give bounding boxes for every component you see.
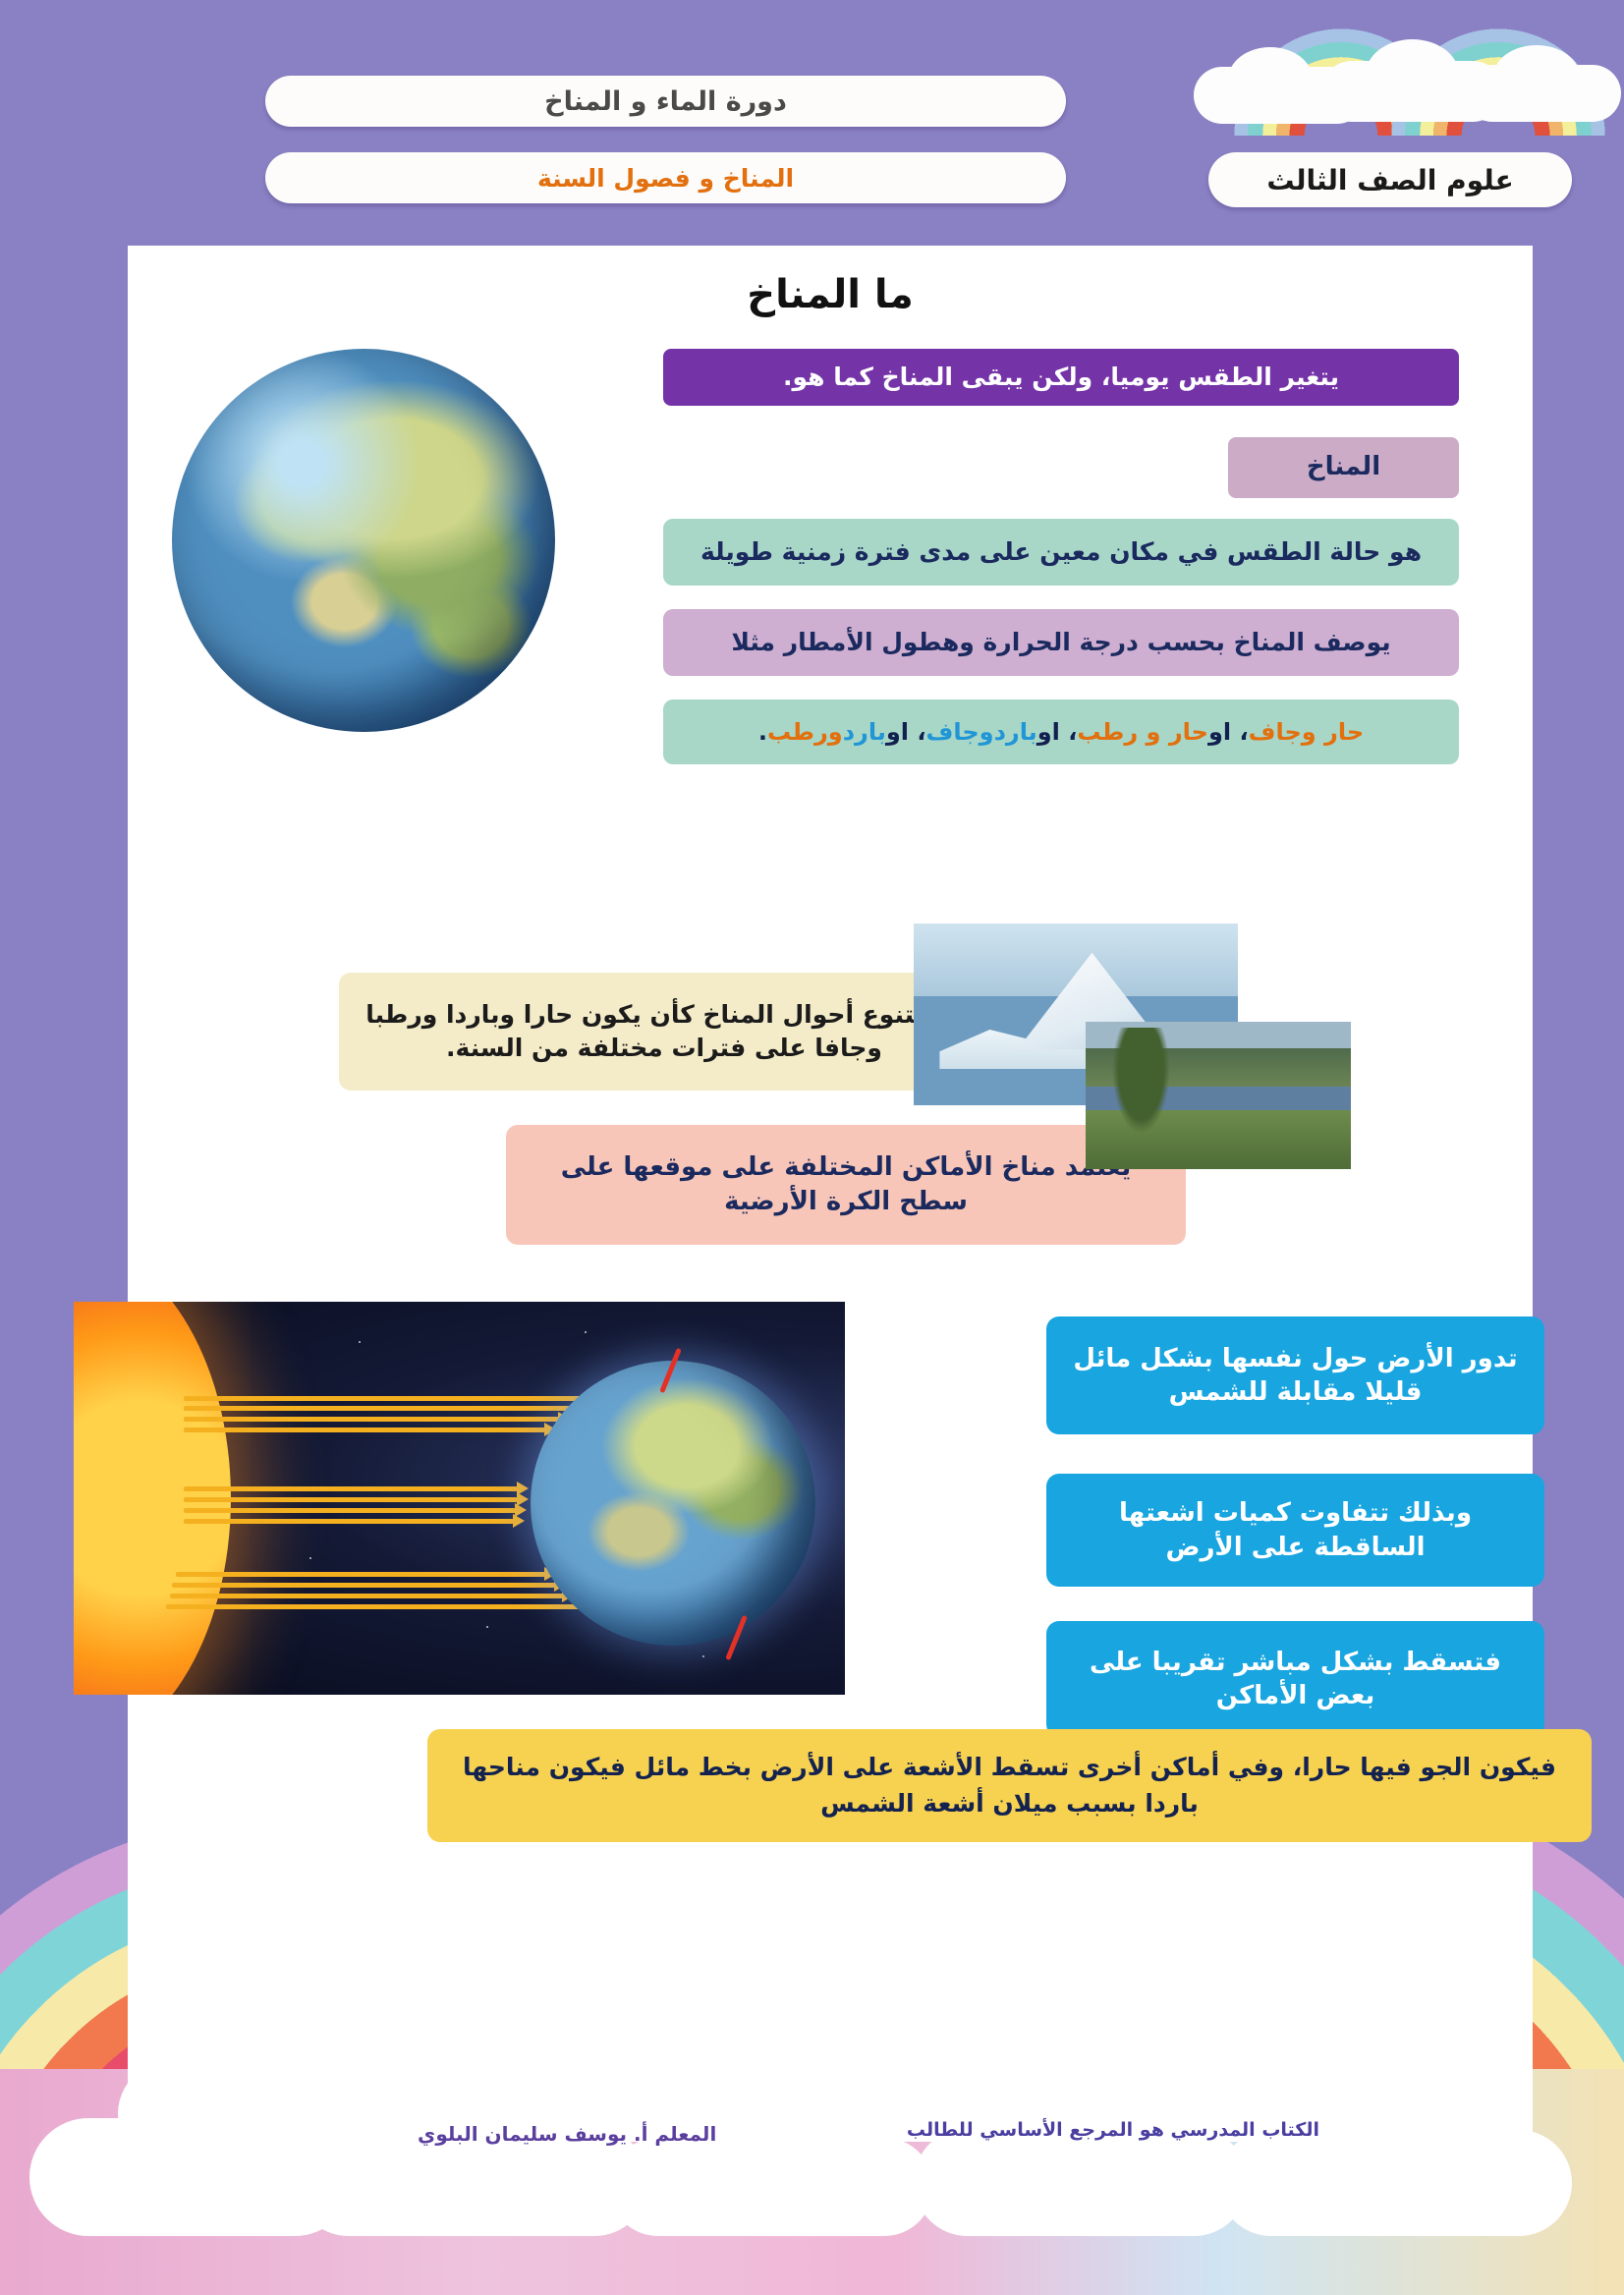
climate-type-cold-dry: وجاف bbox=[925, 716, 993, 748]
climate-type-hot-humid: حار و رطب bbox=[1077, 716, 1208, 748]
top-cloud-2b bbox=[1366, 39, 1459, 110]
header-title-pill: دورة الماء و المناخ bbox=[265, 76, 1066, 127]
direct-rays-box: فتسقط بشكل مباشر تقريبا على بعض الأماكن bbox=[1046, 1621, 1544, 1737]
climate-type-cold-humid: ورطب bbox=[767, 716, 843, 748]
earth-rotation-box: تدور الأرض حول نفسها بشكل مائل قليلا مقا… bbox=[1046, 1316, 1544, 1434]
climate-definition-bar: هو حالة الطقس في مكان معين على مدى فترة … bbox=[663, 519, 1459, 586]
worksheet-page: دورة الماء و المناخ المناخ و فصول السنة … bbox=[0, 0, 1624, 2295]
tilted-rays-conclusion-box: فيكون الجو فيها حارا، وفي أماكن أخرى تسق… bbox=[427, 1729, 1592, 1842]
types-separator-2: ، او bbox=[1037, 716, 1078, 748]
climate-description-bar: يوصف المناخ بحسب درجة الحرارة وهطول الأم… bbox=[663, 609, 1459, 676]
green-lake-warm-climate-photo bbox=[1086, 1022, 1351, 1169]
climate-location-note: يعتمد مناخ الأماكن المختلفة على موقعها ع… bbox=[506, 1125, 1186, 1245]
top-cloud-3b bbox=[1493, 45, 1580, 108]
content-sheet: ما المناخ يتغير الطقس يوميا، ولكن يبقى ا… bbox=[128, 246, 1533, 2142]
header-subtitle-pill: المناخ و فصول السنة bbox=[265, 152, 1066, 203]
footer-teacher-name: المعلم أ. يوسف سليمان البلوي bbox=[418, 2122, 716, 2146]
earth-globe-image bbox=[172, 349, 555, 732]
grade-label-pill: علوم الصف الثالث bbox=[1208, 152, 1572, 207]
footer-book-note: الكتاب المدرسي هو المرجع الأساسي للطالب bbox=[907, 2119, 1319, 2141]
page-title: ما المناخ bbox=[128, 272, 1533, 317]
climate-type-cold-2: بارد bbox=[843, 716, 886, 748]
types-period: . bbox=[758, 716, 767, 748]
climate-types-bar: حار وجاف، او حار و رطب، او بارد وجاف، او… bbox=[663, 700, 1459, 764]
earth-image bbox=[531, 1361, 815, 1646]
top-cloud-1b bbox=[1228, 47, 1313, 112]
climate-type-hot-dry: حار وجاف bbox=[1249, 716, 1365, 748]
types-separator-1: ، او bbox=[1208, 716, 1249, 748]
sun-rays-earth-tilt-diagram bbox=[74, 1302, 845, 1695]
weather-vs-climate-statement: يتغير الطقس يوميا، ولكن يبقى المناخ كما … bbox=[663, 349, 1459, 406]
climate-variation-note: قد تتنوع أحوال المناخ كأن يكون حارا وبار… bbox=[339, 973, 989, 1091]
climate-type-cold: بارد bbox=[994, 716, 1037, 748]
climate-term-label: المناخ bbox=[1228, 437, 1459, 498]
ray-amount-box: وبذلك تتفاوت كميات اشعتها الساقطة على ال… bbox=[1046, 1474, 1544, 1587]
types-separator-3: ، او bbox=[886, 716, 926, 748]
